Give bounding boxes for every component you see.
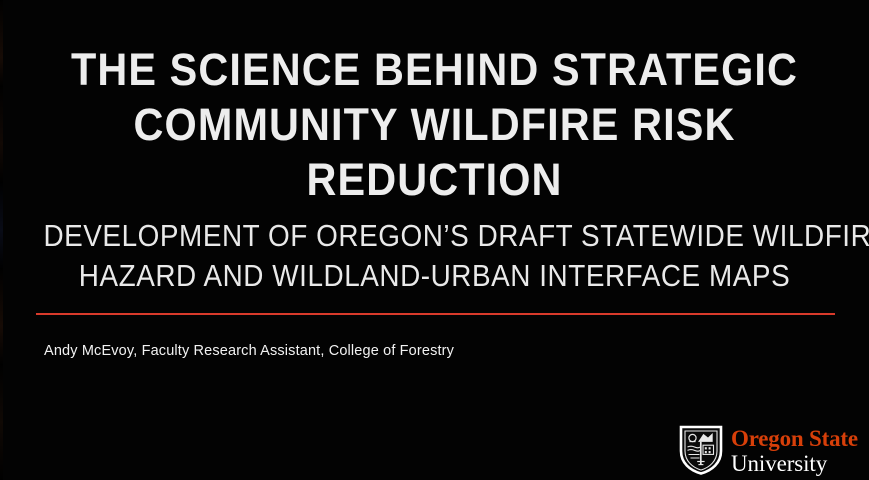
osu-wordmark: Oregon State University bbox=[731, 425, 858, 475]
title-line-3: REDUCTION bbox=[35, 152, 834, 207]
osu-wordmark-line-2: University bbox=[731, 452, 858, 475]
page-title: THE SCIENCE BEHIND STRATEGIC COMMUNITY W… bbox=[0, 42, 869, 207]
subtitle-line-2: HAZARD AND WILDLAND-URBAN INTERFACE MAPS bbox=[43, 256, 825, 296]
subtitle-line-1: DEVELOPMENT OF OREGON’S DRAFT STATEWIDE … bbox=[43, 216, 825, 256]
osu-logo: Oregon State University bbox=[679, 425, 858, 475]
page-subtitle: DEVELOPMENT OF OREGON’S DRAFT STATEWIDE … bbox=[0, 216, 869, 296]
accent-divider bbox=[36, 313, 835, 315]
title-line-2: COMMUNITY WILDFIRE RISK bbox=[35, 97, 834, 152]
title-slide: THE SCIENCE BEHIND STRATEGIC COMMUNITY W… bbox=[0, 0, 869, 480]
presenter-credit: Andy McEvoy, Faculty Research Assistant,… bbox=[44, 343, 454, 359]
osu-shield-crest-icon bbox=[679, 425, 723, 475]
osu-wordmark-line-1: Oregon State bbox=[731, 427, 858, 450]
title-line-1: THE SCIENCE BEHIND STRATEGIC bbox=[35, 42, 834, 97]
